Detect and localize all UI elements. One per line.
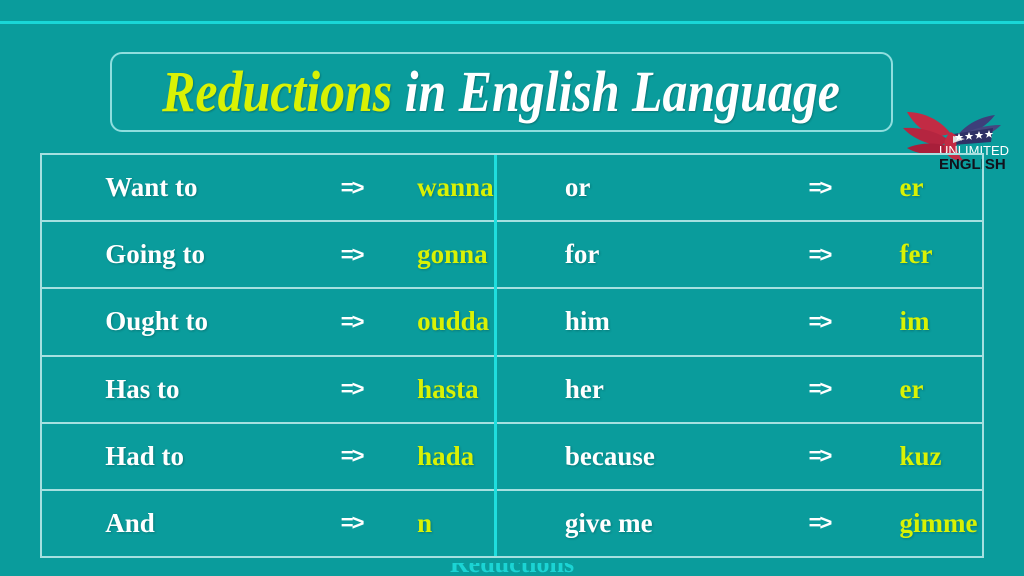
table-row: Has to => hasta — [42, 357, 494, 424]
reduction-term: Want to — [42, 172, 313, 203]
arrow-icon: => — [313, 175, 390, 201]
footer-clipped-region: Reductions — [0, 563, 1024, 576]
title-bar: Reductions in English Language — [0, 46, 1024, 142]
page-title-rest: in English Language — [393, 59, 841, 124]
arrow-icon: => — [778, 376, 860, 402]
reduction-result: er — [861, 374, 982, 405]
arrow-icon: => — [778, 242, 860, 268]
reduction-result: oudda — [390, 306, 494, 337]
reductions-table: Want to => wanna Going to => gonna Ought… — [40, 153, 984, 558]
reduction-result: hasta — [390, 374, 494, 405]
page-title: Reductions in English Language — [163, 63, 841, 121]
reduction-result: kuz — [861, 441, 982, 472]
arrow-icon: => — [313, 376, 390, 402]
reduction-term: Had to — [42, 441, 313, 472]
top-accent-rule — [0, 21, 1024, 24]
table-row: Going to => gonna — [42, 222, 494, 289]
footer-clipped-text: Reductions — [0, 563, 1024, 576]
reduction-term: because — [497, 441, 778, 472]
arrow-icon: => — [778, 443, 860, 469]
arrow-icon: => — [778, 510, 860, 536]
arrow-icon: => — [313, 510, 390, 536]
page-title-accent: Reductions — [163, 59, 393, 124]
reduction-result: n — [390, 508, 494, 539]
reduction-result: hada — [390, 441, 494, 472]
table-row: Ought to => oudda — [42, 289, 494, 356]
reduction-term: or — [497, 172, 778, 203]
reduction-result: im — [861, 306, 982, 337]
table-row: or => er — [497, 155, 982, 222]
reduction-term: Ought to — [42, 306, 313, 337]
table-row: Had to => hada — [42, 424, 494, 491]
table-row: Want to => wanna — [42, 155, 494, 222]
reduction-result: gimme — [861, 508, 982, 539]
table-row: for => fer — [497, 222, 982, 289]
arrow-icon: => — [778, 309, 860, 335]
table-row: him => im — [497, 289, 982, 356]
reductions-right-column: or => er for => fer him => im her => er … — [494, 155, 982, 556]
table-row: And => n — [42, 491, 494, 556]
reduction-term: Going to — [42, 239, 313, 270]
reduction-result: gonna — [390, 239, 494, 270]
reduction-term: her — [497, 374, 778, 405]
reductions-left-column: Want to => wanna Going to => gonna Ought… — [42, 155, 494, 556]
title-box: Reductions in English Language — [110, 52, 893, 132]
arrow-icon: => — [778, 175, 860, 201]
reduction-term: him — [497, 306, 778, 337]
reduction-term: And — [42, 508, 313, 539]
arrow-icon: => — [313, 309, 390, 335]
reduction-result: wanna — [390, 172, 494, 203]
reduction-result: fer — [861, 239, 982, 270]
table-row: her => er — [497, 357, 982, 424]
reduction-term: Has to — [42, 374, 313, 405]
arrow-icon: => — [313, 242, 390, 268]
reduction-result: er — [861, 172, 982, 203]
table-row: because => kuz — [497, 424, 982, 491]
reduction-term: for — [497, 239, 778, 270]
reduction-term: give me — [497, 508, 778, 539]
table-row: give me => gimme — [497, 491, 982, 556]
arrow-icon: => — [313, 443, 390, 469]
